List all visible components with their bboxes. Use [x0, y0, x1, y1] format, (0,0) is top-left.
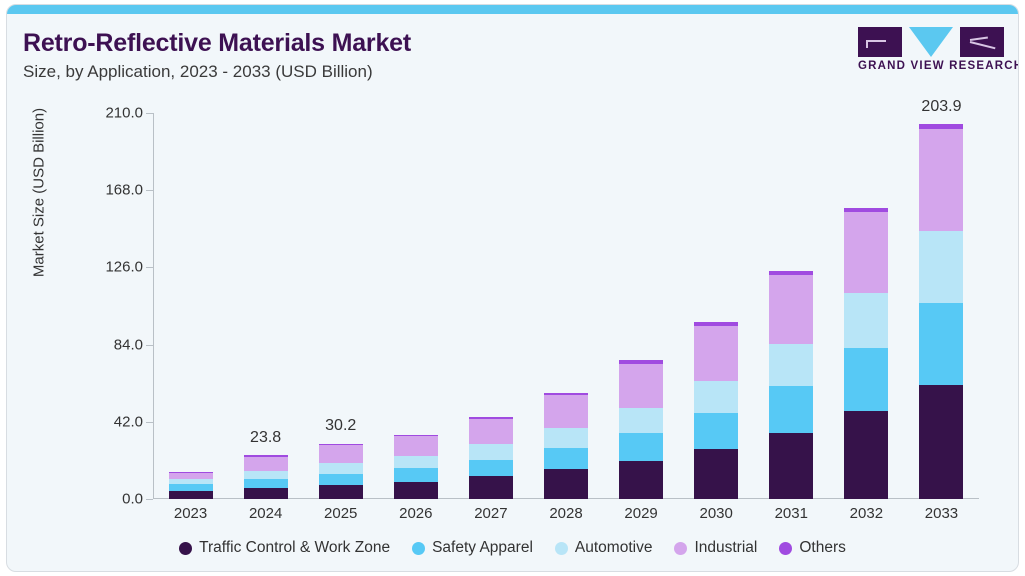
bar-value-label: 30.2	[301, 417, 381, 435]
plot-area: 202323.8202430.2202520262027202820292030…	[153, 113, 979, 499]
bar-segment[interactable]	[469, 444, 513, 459]
bar-segment[interactable]	[319, 485, 363, 499]
legend-swatch-icon	[179, 542, 192, 555]
bar-segment[interactable]	[619, 433, 663, 461]
x-axis-tick-label: 2032	[826, 505, 906, 522]
bar-segment[interactable]	[694, 381, 738, 413]
legend-label: Automotive	[575, 539, 653, 557]
grand-view-research-logo: GRAND VIEW RESEARCH	[858, 27, 1004, 79]
x-axis-tick-label: 2025	[301, 505, 381, 522]
bar-segment[interactable]	[544, 448, 588, 470]
legend-swatch-icon	[555, 542, 568, 555]
bar-2032[interactable]	[844, 208, 888, 499]
bar-2033[interactable]	[919, 124, 963, 499]
y-axis-tick-label: 0.0	[122, 491, 143, 508]
legend-swatch-icon	[674, 542, 687, 555]
y-axis-tick	[146, 190, 153, 191]
bar-2025[interactable]	[319, 444, 363, 499]
y-axis-tick-label: 210.0	[105, 105, 143, 122]
y-axis-tick	[146, 345, 153, 346]
y-axis-line	[153, 113, 154, 499]
bar-segment[interactable]	[769, 433, 813, 499]
legend-item[interactable]: Industrial	[674, 539, 757, 557]
legend-item[interactable]: Traffic Control & Work Zone	[179, 539, 390, 557]
bar-segment[interactable]	[694, 413, 738, 449]
legend-label: Safety Apparel	[432, 539, 533, 557]
bar-segment[interactable]	[694, 326, 738, 381]
bar-segment[interactable]	[244, 471, 288, 479]
bar-segment[interactable]	[244, 457, 288, 471]
bar-segment[interactable]	[394, 456, 438, 468]
top-accent-bar	[7, 5, 1018, 14]
bar-segment[interactable]	[919, 231, 963, 303]
legend-label: Traffic Control & Work Zone	[199, 539, 390, 557]
y-axis-tick-label: 126.0	[105, 259, 143, 276]
x-axis-tick-label: 2023	[151, 505, 231, 522]
bar-value-label: 23.8	[226, 429, 306, 447]
y-axis-tick	[146, 422, 153, 423]
x-axis-tick-label: 2030	[676, 505, 756, 522]
y-axis-labels: 0.042.084.0126.0168.0210.0	[81, 113, 143, 499]
bar-segment[interactable]	[919, 303, 963, 384]
y-axis-tick	[146, 267, 153, 268]
legend-item[interactable]: Others	[779, 539, 846, 557]
bar-segment[interactable]	[544, 469, 588, 499]
bar-2030[interactable]	[694, 322, 738, 499]
logo-mark-b-icon	[866, 40, 868, 48]
page-subtitle: Size, by Application, 2023 - 2033 (USD B…	[23, 62, 373, 82]
bar-segment[interactable]	[469, 476, 513, 499]
legend-item[interactable]: Automotive	[555, 539, 653, 557]
legend-label: Industrial	[694, 539, 757, 557]
bar-segment[interactable]	[244, 479, 288, 488]
bar-segment[interactable]	[169, 491, 213, 499]
x-axis-tick-label: 2026	[376, 505, 456, 522]
bar-segment[interactable]	[844, 293, 888, 348]
y-axis-tick-label: 42.0	[114, 413, 143, 430]
bar-segment[interactable]	[694, 449, 738, 499]
bar-segment[interactable]	[319, 445, 363, 463]
chart-legend: Traffic Control & Work ZoneSafety Appare…	[7, 539, 1018, 557]
bar-segment[interactable]	[844, 348, 888, 411]
bar-segment[interactable]	[544, 395, 588, 428]
logo-rect-left-icon	[858, 27, 902, 57]
y-axis-tick-label: 84.0	[114, 336, 143, 353]
y-axis-tick-label: 168.0	[105, 182, 143, 199]
bar-segment[interactable]	[469, 419, 513, 444]
bar-segment[interactable]	[394, 482, 438, 499]
bar-segment[interactable]	[319, 463, 363, 473]
bar-segment[interactable]	[844, 411, 888, 499]
bar-segment[interactable]	[394, 468, 438, 482]
bar-2028[interactable]	[544, 393, 588, 499]
bar-segment[interactable]	[319, 474, 363, 485]
bar-value-label: 203.9	[901, 98, 981, 116]
bar-segment[interactable]	[919, 385, 963, 499]
legend-swatch-icon	[412, 542, 425, 555]
bar-2024[interactable]	[244, 455, 288, 499]
bar-segment[interactable]	[619, 364, 663, 408]
bar-2031[interactable]	[769, 271, 813, 499]
logo-mark-a-icon	[866, 40, 886, 42]
logo-triangle-icon	[909, 27, 953, 57]
y-axis-title: Market Size (USD Billion)	[31, 43, 48, 343]
logo-text: GRAND VIEW RESEARCH	[858, 60, 1004, 72]
legend-item[interactable]: Safety Apparel	[412, 539, 533, 557]
bar-segment[interactable]	[919, 129, 963, 231]
bar-segment[interactable]	[244, 488, 288, 499]
bar-segment[interactable]	[619, 461, 663, 499]
bar-segment[interactable]	[844, 212, 888, 293]
x-axis-tick-label: 2033	[901, 505, 981, 522]
x-axis-tick-label: 2027	[451, 505, 531, 522]
bar-2027[interactable]	[469, 417, 513, 499]
bar-2026[interactable]	[394, 435, 438, 499]
bar-segment[interactable]	[394, 436, 438, 455]
page-title: Retro-Reflective Materials Market	[23, 29, 411, 58]
x-axis-tick-label: 2029	[601, 505, 681, 522]
bar-segment[interactable]	[544, 428, 588, 447]
x-axis-tick-label: 2024	[226, 505, 306, 522]
bar-segment[interactable]	[769, 275, 813, 344]
bar-2029[interactable]	[619, 360, 663, 499]
bar-segment[interactable]	[169, 484, 213, 491]
bar-segment[interactable]	[469, 460, 513, 477]
bar-segment[interactable]	[769, 386, 813, 433]
x-axis-tick-label: 2028	[526, 505, 606, 522]
y-axis-tick	[146, 113, 153, 114]
y-axis-tick	[146, 499, 153, 500]
logo-rect-right-icon	[960, 27, 1004, 57]
bar-2023[interactable]	[169, 472, 213, 499]
bar-segment[interactable]	[769, 344, 813, 385]
legend-swatch-icon	[779, 542, 792, 555]
legend-label: Others	[799, 539, 846, 557]
x-axis-tick-label: 2031	[751, 505, 831, 522]
bar-segment[interactable]	[619, 408, 663, 433]
chart-card: Retro-Reflective Materials Market Size, …	[6, 4, 1019, 572]
